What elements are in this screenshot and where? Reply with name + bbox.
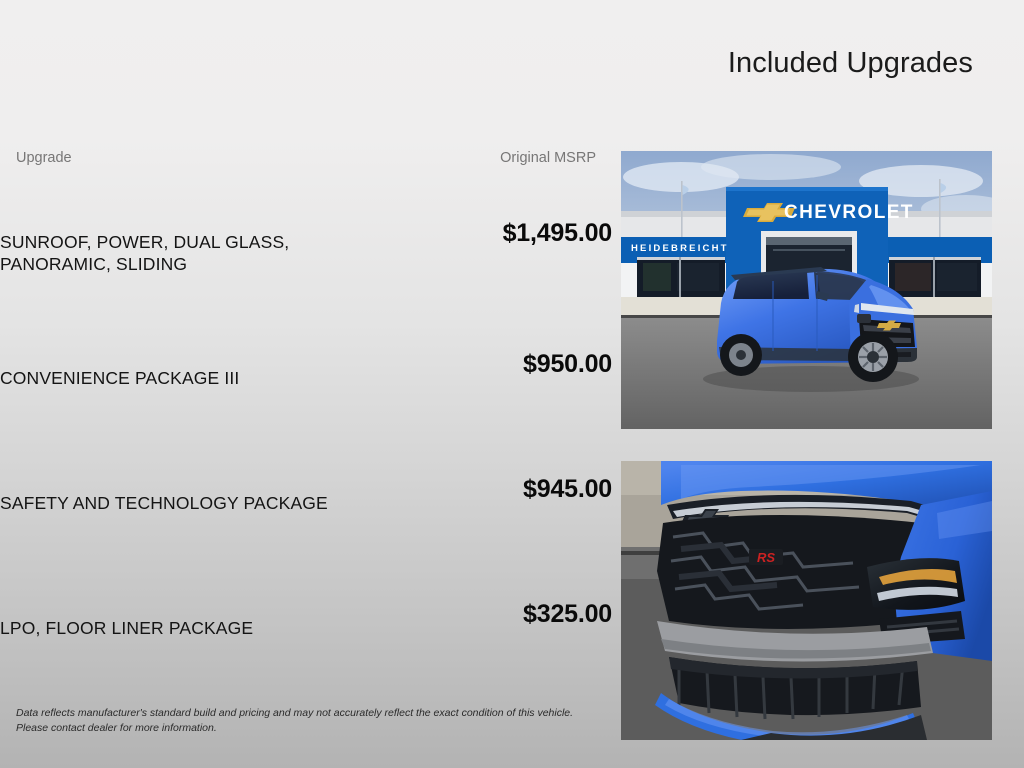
disclaimer-line-2: Please contact dealer for more informati… [16,721,606,736]
upgrade-price: $945.00 [400,427,612,552]
rs-badge: RS [749,549,783,565]
vehicle-photo-grille-closeup: RS [621,461,992,740]
upgrades-page: Included Upgrades Upgrade Original MSRP … [0,0,1024,768]
upgrade-name: LPO, FLOOR LINER PACKAGE [0,565,400,690]
table-row: CONVENIENCE PACKAGE III $950.00 [0,315,612,440]
table-body: SUNROOF, POWER, DUAL GLASS, PANORAMIC, S… [0,190,612,690]
page-title: Included Upgrades [728,47,973,80]
upgrade-price: $325.00 [400,552,612,677]
disclaimer: Data reflects manufacturer's standard bu… [16,706,606,736]
vehicle-photo-exterior: CHEVROLET HEIDEBREICHT [621,151,992,429]
table-row: LPO, FLOOR LINER PACKAGE $325.00 [0,565,612,690]
disclaimer-line-1: Data reflects manufacturer's standard bu… [16,706,606,721]
rs-badge-text: RS [757,550,775,565]
upgrade-name: SAFETY AND TECHNOLOGY PACKAGE [0,440,400,565]
table-row: SUNROOF, POWER, DUAL GLASS, PANORAMIC, S… [0,190,612,315]
upgrade-name: SUNROOF, POWER, DUAL GLASS, PANORAMIC, S… [0,190,400,315]
grille-closeup-illustration: RS [621,461,992,740]
column-header-upgrade: Upgrade [0,150,400,190]
brand-sign-text: CHEVROLET [784,202,914,223]
dealer-name-text: HEIDEBREICHT [631,243,729,254]
upgrades-table-container: Upgrade Original MSRP SUNROOF, POWER, DU… [0,150,612,690]
upgrade-price: $950.00 [400,302,612,427]
dealership-scene-illustration: CHEVROLET HEIDEBREICHT [621,151,992,429]
upgrades-table: Upgrade Original MSRP SUNROOF, POWER, DU… [0,150,612,690]
table-row: SAFETY AND TECHNOLOGY PACKAGE $945.00 [0,440,612,565]
upgrade-price: $1,495.00 [400,171,612,296]
wheel-rear [720,334,762,376]
upgrade-name: CONVENIENCE PACKAGE III [0,315,400,440]
wheel-front [848,332,898,382]
